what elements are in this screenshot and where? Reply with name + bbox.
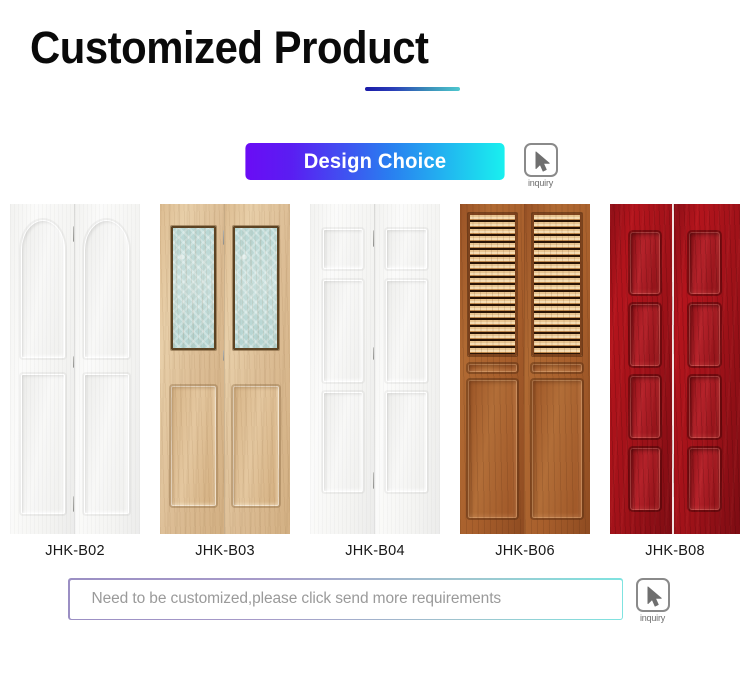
product-card-jhk-b02[interactable]: JHK-B02 bbox=[0, 204, 150, 559]
product-label: JHK-B06 bbox=[495, 543, 554, 559]
inquiry-box-bottom bbox=[636, 578, 670, 612]
requirements-row: inquiry bbox=[68, 578, 671, 623]
door-leaf-left bbox=[10, 204, 75, 534]
inquiry-button-top[interactable]: inquiry bbox=[522, 143, 559, 188]
inquiry-label-top: inquiry bbox=[528, 178, 553, 188]
product-label: JHK-B03 bbox=[195, 543, 254, 559]
inquiry-box-top bbox=[524, 143, 558, 177]
product-card-jhk-b08[interactable]: JHK-B08 bbox=[600, 204, 750, 559]
page-title: Customized Product bbox=[30, 21, 429, 75]
door-leaf-right bbox=[75, 204, 140, 534]
product-label: JHK-B08 bbox=[645, 543, 704, 559]
design-choice-button[interactable]: Design Choice bbox=[245, 143, 504, 180]
product-grid: JHK-B02 JHK-B03 bbox=[0, 204, 750, 559]
product-card-jhk-b03[interactable]: JHK-B03 bbox=[150, 204, 300, 559]
customized-product-page: Customized Product Design Choice inquiry bbox=[0, 0, 750, 678]
design-choice-label: Design Choice bbox=[304, 150, 447, 174]
product-image-jhk-b02 bbox=[10, 204, 140, 534]
title-underline-accent bbox=[365, 87, 460, 91]
cursor-arrow-icon bbox=[535, 151, 552, 172]
requirements-input-wrap bbox=[68, 578, 623, 620]
door-leaf-left bbox=[310, 204, 375, 534]
door-leaf-right bbox=[225, 204, 290, 534]
door-leaf-left bbox=[460, 204, 525, 534]
inquiry-button-bottom[interactable]: inquiry bbox=[634, 578, 671, 623]
design-choice-row: Design Choice inquiry bbox=[240, 143, 559, 188]
door-leaf-right bbox=[675, 204, 740, 534]
requirements-input[interactable] bbox=[70, 580, 622, 619]
cursor-arrow-icon bbox=[647, 586, 664, 607]
door-leaf-left bbox=[610, 204, 675, 534]
product-image-jhk-b04 bbox=[310, 204, 440, 534]
door-leaf-left bbox=[160, 204, 225, 534]
door-leaf-right bbox=[525, 204, 590, 534]
inquiry-label-bottom: inquiry bbox=[640, 613, 665, 623]
product-image-jhk-b03 bbox=[160, 204, 290, 534]
product-image-jhk-b08 bbox=[610, 204, 740, 534]
product-label: JHK-B02 bbox=[45, 543, 104, 559]
product-card-jhk-b04[interactable]: JHK-B04 bbox=[300, 204, 450, 559]
product-card-jhk-b06[interactable]: JHK-B06 bbox=[450, 204, 600, 559]
product-image-jhk-b06 bbox=[460, 204, 590, 534]
door-leaf-right bbox=[375, 204, 440, 534]
product-label: JHK-B04 bbox=[345, 543, 404, 559]
